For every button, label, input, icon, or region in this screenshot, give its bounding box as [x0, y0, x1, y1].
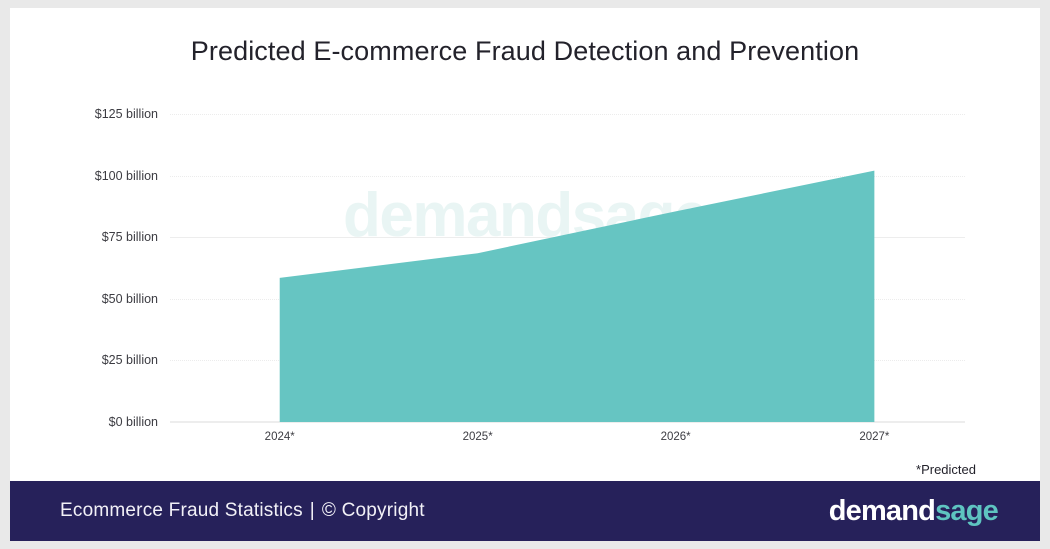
- x-tick-label-2024: 2024*: [265, 431, 295, 443]
- area-series: [170, 114, 965, 422]
- logo-text-demand: demand: [829, 495, 935, 528]
- x-tick-label-2026: 2026*: [661, 431, 691, 443]
- footer-bar: Ecommerce Fraud Statistics | © Copyright…: [10, 481, 1040, 541]
- y-tick-label-25: $25 billion: [102, 353, 158, 367]
- y-tick-label-50: $50 billion: [102, 292, 158, 306]
- demandsage-logo[interactable]: demandsage: [829, 495, 998, 528]
- y-tick-label-100: $100 billion: [95, 169, 158, 183]
- footer-caption: Ecommerce Fraud Statistics: [60, 500, 303, 522]
- chart-card: Predicted E-commerce Fraud Detection and…: [10, 8, 1040, 541]
- y-tick-label-75: $75 billion: [102, 230, 158, 244]
- footer-separator: |: [310, 500, 315, 522]
- footer-copyright: © Copyright: [322, 500, 425, 522]
- x-tick-label-2027: 2027*: [859, 431, 889, 443]
- y-tick-label-125: $125 billion: [95, 107, 158, 121]
- x-tick-label-2025: 2025*: [463, 431, 493, 443]
- chart-canvas: demandsage $125 billion $100 billion $75…: [10, 8, 1040, 481]
- predicted-annotation: *Predicted: [916, 462, 976, 477]
- logo-text-sage: sage: [935, 495, 998, 528]
- footer-caption-group: Ecommerce Fraud Statistics | © Copyright: [60, 500, 425, 522]
- plot-area: $125 billion $100 billion $75 billion $5…: [170, 114, 965, 422]
- y-tick-label-0: $0 billion: [109, 415, 158, 429]
